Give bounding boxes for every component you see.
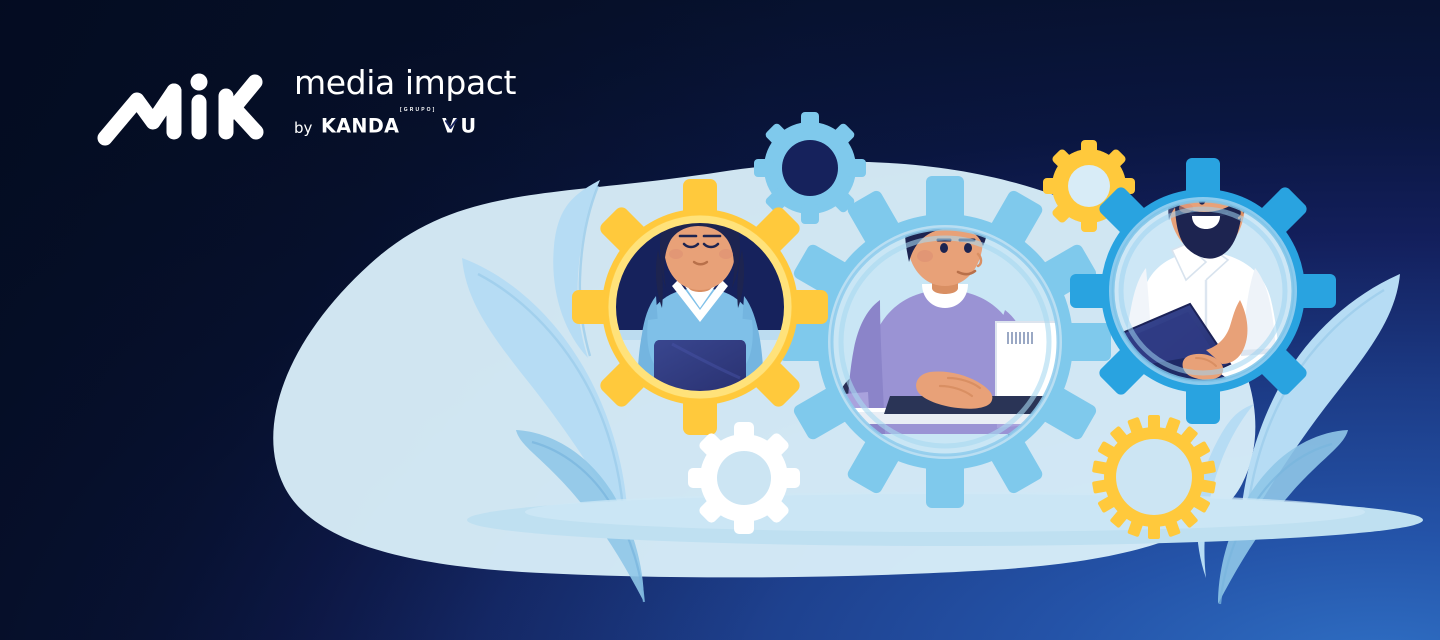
kandavu-brand-stack: [GRUPO] KANDA V U bbox=[321, 108, 513, 138]
brand-wordmark-block: media impact by [GRUPO] KANDA V U bbox=[294, 60, 516, 138]
gear-small-bottom-white bbox=[688, 422, 800, 534]
brand-sub-row: by [GRUPO] KANDA V U bbox=[294, 108, 516, 138]
svg-text:U: U bbox=[461, 115, 477, 138]
brand-logo-lockup[interactable]: media impact by [GRUPO] KANDA V U bbox=[96, 60, 516, 148]
gear-ring-bottom-right-yellow bbox=[1092, 415, 1216, 539]
mik-logo-mark[interactable] bbox=[96, 60, 264, 148]
banner-hero: media impact by [GRUPO] KANDA V U bbox=[0, 0, 1440, 640]
svg-text:KANDA: KANDA bbox=[321, 115, 399, 138]
grupo-label: [GRUPO] bbox=[400, 108, 436, 113]
wordmark-media-impact: media impact bbox=[294, 66, 516, 99]
kandavu-brandmark: KANDA V U bbox=[321, 115, 513, 138]
by-label: by bbox=[294, 121, 312, 138]
